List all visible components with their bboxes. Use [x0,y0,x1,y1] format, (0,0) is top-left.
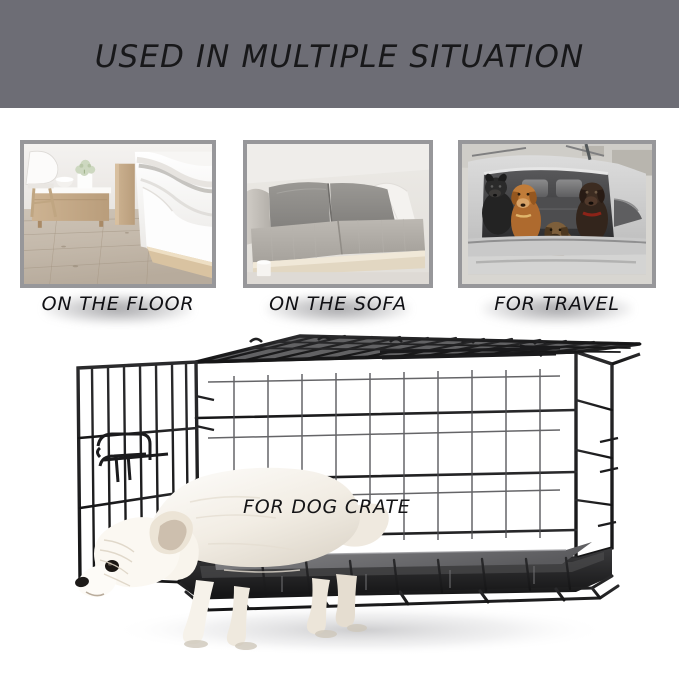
header-banner: USED IN MULTIPLE SITUATION [0,0,679,108]
use-case-thumbnail-row: ON THE FLOOR [0,108,679,338]
hero-product-image: FOR DOG CRATE [0,330,679,673]
use-case-card-sofa[interactable]: ON THE SOFA [243,108,433,338]
thumbnail-image-sofa [243,140,433,288]
use-case-card-floor[interactable]: ON THE FLOOR [20,108,216,338]
hero-caption: FOR DOG CRATE [243,496,411,518]
use-case-caption-sofa: ON THE SOFA [243,293,433,315]
thumbnail-image-floor [20,140,216,288]
use-case-card-travel[interactable]: FOR TRAVEL [458,108,656,338]
product-infographic: USED IN MULTIPLE SITUATION [0,0,679,673]
thumbnail-image-travel [458,140,656,288]
use-case-caption-travel: FOR TRAVEL [458,293,656,315]
use-case-caption-floor: ON THE FLOOR [20,293,216,315]
page-title: USED IN MULTIPLE SITUATION [0,0,679,108]
